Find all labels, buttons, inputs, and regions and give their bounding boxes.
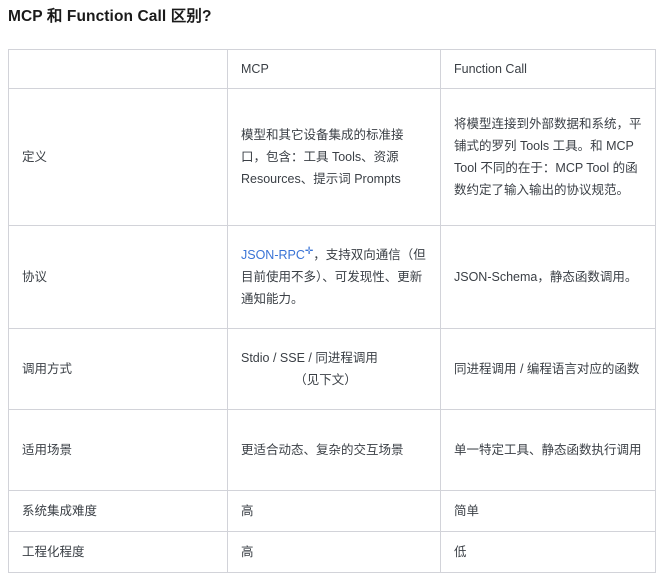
row-label-engineering-maturity: 工程化程度 xyxy=(9,532,228,573)
table-row: 协议 JSON-RPC✛，支持双向通信（但目前使用不多）、可发现性、更新通知能力… xyxy=(9,226,656,329)
row-label-definition: 定义 xyxy=(9,89,228,226)
cell-invocation-function-call: 同进程调用 / 编程语言对应的函数 xyxy=(441,329,656,410)
cell-invocation-mcp-line2: （见下文） xyxy=(241,369,428,391)
cell-engineering-maturity-function-call: 低 xyxy=(441,532,656,573)
row-label-integration-difficulty: 系统集成难度 xyxy=(9,491,228,532)
cell-scenarios-function-call: 单一特定工具、静态函数执行调用 xyxy=(441,410,656,491)
table-row: 工程化程度 高 低 xyxy=(9,532,656,573)
column-header-function-call: Function Call xyxy=(441,50,656,89)
table-row: 适用场景 更适合动态、复杂的交互场景 单一特定工具、静态函数执行调用 xyxy=(9,410,656,491)
cell-definition-function-call: 将模型连接到外部数据和系统，平铺式的罗列 Tools 工具。和 MCP Tool… xyxy=(441,89,656,226)
cell-integration-difficulty-mcp: 高 xyxy=(228,491,441,532)
table-row: 定义 模型和其它设备集成的标准接口，包含：工具 Tools、资源 Resourc… xyxy=(9,89,656,226)
comparison-table-container: MCP Function Call 定义 模型和其它设备集成的标准接口，包含：工… xyxy=(8,49,655,573)
row-label-protocol: 协议 xyxy=(9,226,228,329)
cell-protocol-function-call: JSON-Schema，静态函数调用。 xyxy=(441,226,656,329)
cell-invocation-mcp-line1: Stdio / SSE / 同进程调用 xyxy=(241,351,378,365)
cell-integration-difficulty-function-call: 简单 xyxy=(441,491,656,532)
row-label-scenarios: 适用场景 xyxy=(9,410,228,491)
cell-scenarios-mcp: 更适合动态、复杂的交互场景 xyxy=(228,410,441,491)
table-header: MCP Function Call xyxy=(9,50,656,89)
column-header-mcp: MCP xyxy=(228,50,441,89)
cell-invocation-mcp: Stdio / SSE / 同进程调用（见下文） xyxy=(228,329,441,410)
column-header-blank xyxy=(9,50,228,89)
table-row: 系统集成难度 高 简单 xyxy=(9,491,656,532)
comparison-table: MCP Function Call 定义 模型和其它设备集成的标准接口，包含：工… xyxy=(8,49,656,573)
page-title: MCP 和 Function Call 区别? xyxy=(8,7,212,27)
table-body: 定义 模型和其它设备集成的标准接口，包含：工具 Tools、资源 Resourc… xyxy=(9,89,656,573)
page-root: MCP 和 Function Call 区别? MCP Function Cal… xyxy=(0,0,669,464)
table-header-row: MCP Function Call xyxy=(9,50,656,89)
json-rpc-link[interactable]: JSON-RPC xyxy=(241,248,305,262)
cell-protocol-mcp: JSON-RPC✛，支持双向通信（但目前使用不多）、可发现性、更新通知能力。 xyxy=(228,226,441,329)
cell-engineering-maturity-mcp: 高 xyxy=(228,532,441,573)
table-row: 调用方式 Stdio / SSE / 同进程调用（见下文） 同进程调用 / 编程… xyxy=(9,329,656,410)
cell-definition-mcp: 模型和其它设备集成的标准接口，包含：工具 Tools、资源 Resources、… xyxy=(228,89,441,226)
row-label-invocation: 调用方式 xyxy=(9,329,228,410)
